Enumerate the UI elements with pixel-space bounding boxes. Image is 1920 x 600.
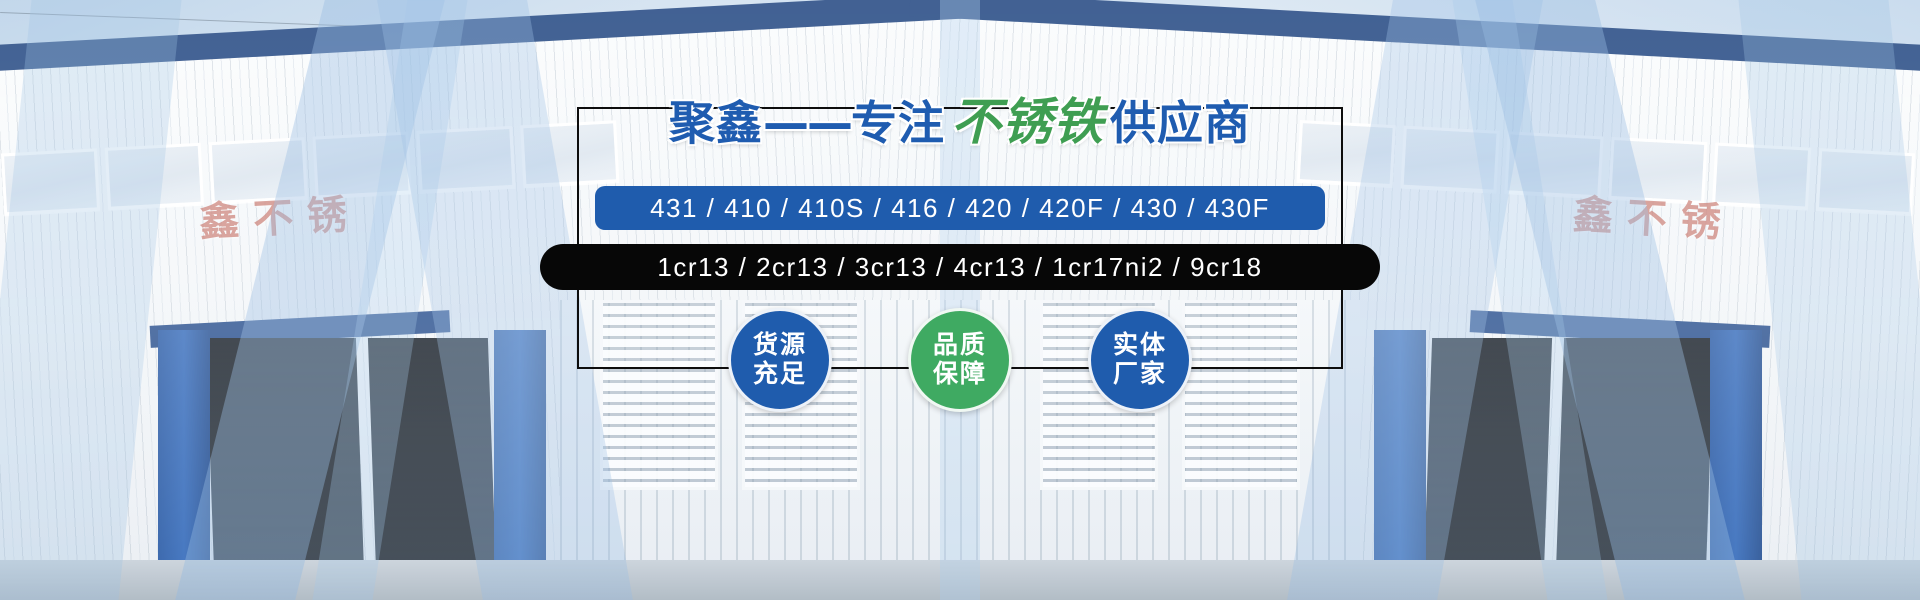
headline-mid: 专注 <box>851 96 945 150</box>
headline-suffix: 供应商 <box>1110 96 1251 150</box>
feature-badges: 货源 充足 品质 保障 实体 厂家 <box>0 300 1920 420</box>
headline-dash: —— <box>763 96 851 150</box>
headline-prefix: 聚鑫 <box>669 96 763 150</box>
badge-line-2: 厂家 <box>1113 360 1167 389</box>
badge-factory: 实体 厂家 <box>1088 308 1192 412</box>
badge-line-2: 保障 <box>933 360 987 389</box>
banner-content: 聚鑫——专注不锈铁供应商 431 / 410 / 410S / 416 / 42… <box>0 0 1920 600</box>
grade-bar-stainless: 431 / 410 / 410S / 416 / 420 / 420F / 43… <box>595 186 1325 230</box>
headline: 聚鑫——专注不锈铁供应商 <box>0 82 1920 154</box>
promo-banner: 鑫 不 锈 鑫 不 锈 <box>0 0 1920 600</box>
badge-line-1: 实体 <box>1113 331 1167 360</box>
badge-supply: 货源 充足 <box>728 308 832 412</box>
headline-highlight: 不锈铁 <box>945 92 1110 151</box>
badge-line-2: 充足 <box>753 360 807 389</box>
headline-text: 聚鑫——专注不锈铁供应商 <box>669 82 1251 154</box>
badge-line-1: 货源 <box>753 331 807 360</box>
badge-line-1: 品质 <box>933 331 987 360</box>
grade-bar-cr: 1cr13 / 2cr13 / 3cr13 / 4cr13 / 1cr17ni2… <box>540 244 1380 290</box>
badge-quality: 品质 保障 <box>908 308 1012 412</box>
